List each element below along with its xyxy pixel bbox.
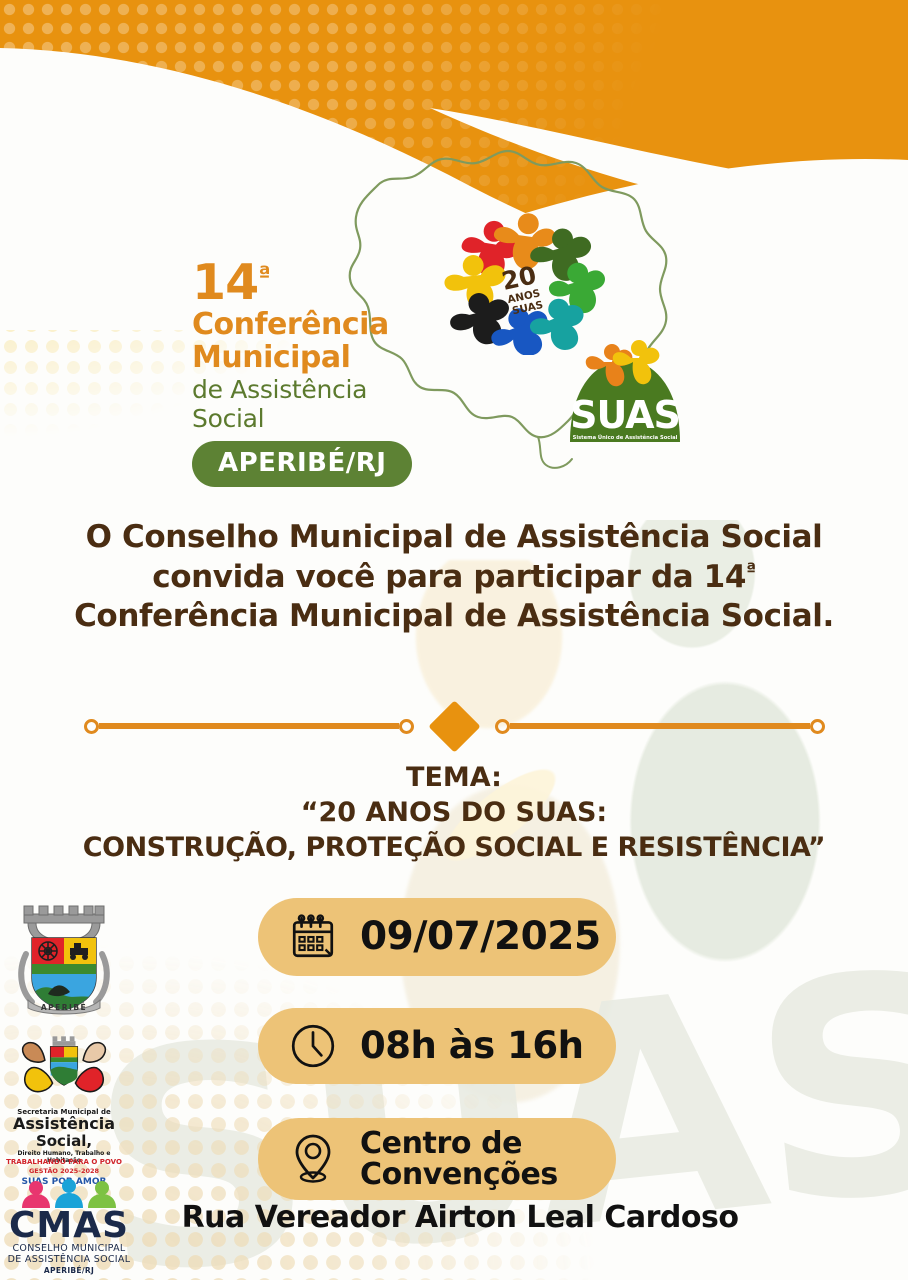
headline-line-3: Conferência Municipal de Assistência Soc…	[0, 597, 908, 637]
semas-line-2: Assistência	[4, 1116, 124, 1132]
suas-logo-icon: SUAS Sistema Único de Assistência Social	[560, 330, 690, 450]
divider-line-right	[510, 723, 810, 729]
cmas-subtitle-line-2: DE ASSISTÊNCIA SOCIAL	[8, 1254, 131, 1265]
cmas-subtitle-line-1: CONSELHO MUNICIPAL	[13, 1243, 126, 1254]
conference-line-municipal: Municipal	[192, 342, 452, 374]
suas-logo-subtitle: Sistema Único de Assistência Social	[573, 434, 678, 441]
headline-line-1: O Conselho Municipal de Assistência Soci…	[0, 518, 908, 558]
brasao-scroll-text: APERIBÉ	[41, 1003, 87, 1012]
event-date-value: 09/07/2025	[360, 917, 601, 958]
event-time-value: 08h às 16h	[360, 1027, 583, 1066]
conference-logo: 20 ANOS SUAS 14ª Conferência Municipal d…	[170, 125, 740, 515]
clock-icon	[288, 1021, 338, 1071]
aperibe-badge: APERIBÉ/RJ	[192, 441, 412, 487]
cmas-subtitle: CONSELHO MUNICIPAL DE ASSISTÊNCIA SOCIAL	[2, 1244, 136, 1265]
divider-dot-right	[810, 719, 825, 734]
event-poster: SUAS	[0, 0, 908, 1280]
cmas-acronym: CMAS	[2, 1208, 136, 1244]
divider-dot-inner-left	[399, 719, 414, 734]
conference-line-social: Social	[192, 405, 452, 433]
semas-line-5: TRABALHANDO PARA O POVO	[4, 1158, 124, 1166]
tema-line-1: “20 ANOS DO SUAS:	[0, 795, 908, 830]
tema-section: TEMA: “20 ANOS DO SUAS: CONSTRUÇÃO, PROT…	[0, 760, 908, 865]
invitation-headline: O Conselho Municipal de Assistência Soci…	[0, 518, 908, 637]
suas-logo-title: SUAS	[570, 393, 680, 437]
map-pin-icon	[288, 1132, 338, 1186]
conference-line-conferencia: Conferência	[192, 309, 452, 341]
cmas-logo: CMAS CONSELHO MUNICIPAL DE ASSISTÊNCIA S…	[2, 1178, 136, 1274]
event-date-pill: 09/07/2025	[258, 898, 616, 976]
event-location-pill: Centro de Convenções	[258, 1118, 616, 1200]
event-time-pill: 08h às 16h	[258, 1008, 616, 1084]
semas-line-3: Social,	[4, 1134, 124, 1149]
section-divider	[0, 698, 908, 754]
tema-label: TEMA:	[0, 760, 908, 795]
tema-line-2: CONSTRUÇÃO, PROTEÇÃO SOCIAL E RESISTÊNCI…	[0, 830, 908, 865]
calendar-icon	[288, 912, 338, 962]
aperibe-coat-of-arms-logo: APERIBÉ	[8, 898, 120, 1016]
cmas-city: APERIBÉ/RJ	[2, 1266, 136, 1275]
secretaria-assistencia-social-logo: Secretaria Municipal de Assistência Soci…	[4, 1022, 124, 1170]
semas-line-6: GESTÃO 2025-2028	[4, 1167, 124, 1175]
headline-line-2: convida você para participar da 14ª	[0, 558, 908, 598]
conference-number: 14ª	[192, 260, 452, 307]
conference-line-assistencia: de Assistência	[192, 376, 452, 404]
event-location-line-2: Convenções	[360, 1157, 558, 1192]
divider-dot-inner-right	[495, 719, 510, 734]
conference-title-text: 14ª Conferência Municipal de Assistência…	[192, 260, 452, 487]
divider-dot-left	[84, 719, 99, 734]
event-address: Rua Vereador Airton Leal Cardoso	[130, 1200, 790, 1235]
divider-diamond-icon	[428, 700, 480, 752]
divider-line-left	[99, 723, 399, 729]
event-location-line-1: Centro de	[360, 1126, 522, 1161]
event-location-value: Centro de Convenções	[360, 1128, 558, 1191]
